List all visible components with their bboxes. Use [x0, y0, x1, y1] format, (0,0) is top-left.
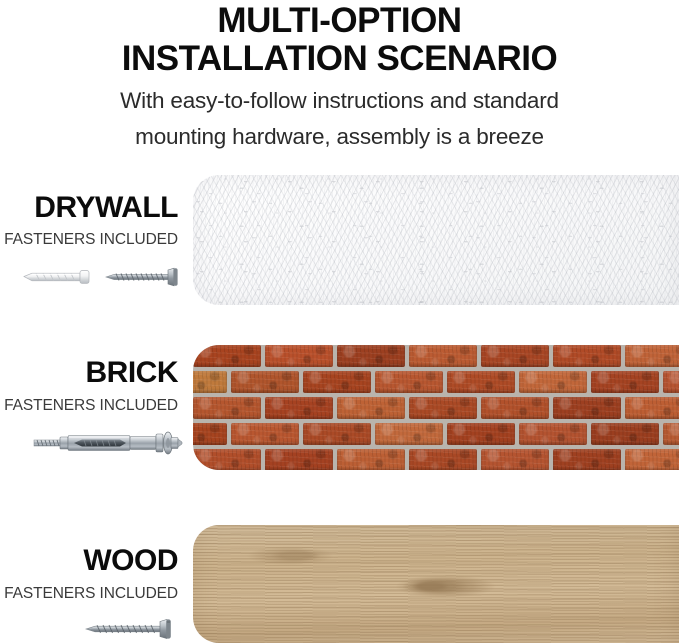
brick: [409, 345, 477, 367]
brick: [337, 397, 405, 419]
brick: [303, 371, 371, 393]
brick: [519, 371, 587, 393]
brick: [375, 423, 443, 445]
brick-row: [193, 449, 679, 470]
brick: [625, 345, 679, 367]
brick: [625, 449, 679, 470]
infographic-page: MULTI-OPTION INSTALLATION SCENARIO With …: [0, 0, 679, 643]
material-sub-drywall: FASTENERS INCLUDED: [0, 231, 178, 249]
sleeve-anchor-bolt-icon: [32, 429, 184, 457]
brick-row: [193, 345, 679, 371]
screw-icon: [104, 266, 184, 288]
brick: [553, 449, 621, 470]
brick: [193, 423, 227, 445]
drywall-label-group: DRYWALL FASTENERS INCLUDED: [0, 175, 186, 305]
header: MULTI-OPTION INSTALLATION SCENARIO With …: [0, 0, 679, 150]
brick-texture-panel: [193, 345, 679, 470]
brick: [447, 423, 515, 445]
material-name-wood: WOOD: [0, 545, 178, 577]
brick: [265, 449, 333, 470]
brick: [409, 449, 477, 470]
title-line-2: INSTALLATION SCENARIO: [0, 40, 679, 78]
brick: [193, 449, 261, 470]
brick: [193, 397, 261, 419]
subtitle-line-1: With easy-to-follow instructions and sta…: [0, 88, 679, 114]
brick: [591, 371, 659, 393]
brick: [663, 371, 679, 393]
brick: [481, 449, 549, 470]
brick-row: [193, 371, 679, 397]
drywall-texture-panel: [193, 175, 679, 305]
material-sub-brick: FASTENERS INCLUDED: [0, 397, 178, 415]
brick-fastener-group: [0, 423, 178, 465]
material-name-brick: BRICK: [0, 357, 178, 389]
brick-label-group: BRICK FASTENERS INCLUDED: [0, 345, 186, 470]
brick: [591, 423, 659, 445]
brick: [337, 345, 405, 367]
brick: [447, 371, 515, 393]
brick: [337, 449, 405, 470]
brick: [231, 423, 299, 445]
brick: [553, 345, 621, 367]
brick: [625, 397, 679, 419]
drywall-fastener-group: [0, 257, 178, 299]
brick: [231, 371, 299, 393]
wood-screw-icon: [84, 617, 180, 641]
wood-label-group: WOOD FASTENERS INCLUDED: [0, 525, 186, 643]
material-sub-wood: FASTENERS INCLUDED: [0, 585, 178, 603]
material-row-brick: BRICK FASTENERS INCLUDED: [0, 345, 679, 470]
brick: [193, 345, 261, 367]
material-row-wood: WOOD FASTENERS INCLUDED: [0, 525, 679, 643]
title-line-1: MULTI-OPTION: [0, 2, 679, 40]
subtitle-line-2: mounting hardware, assembly is a breeze: [0, 124, 679, 150]
brick: [519, 423, 587, 445]
brick: [265, 345, 333, 367]
material-name-drywall: DRYWALL: [0, 192, 178, 224]
brick-row: [193, 423, 679, 449]
brick-row: [193, 397, 679, 423]
brick: [553, 397, 621, 419]
material-row-drywall: DRYWALL FASTENERS INCLUDED: [0, 175, 679, 305]
brick: [375, 371, 443, 393]
wall-anchor-icon: [22, 265, 98, 289]
brick: [481, 345, 549, 367]
wood-fastener-group: [0, 611, 178, 643]
wood-texture-panel: [193, 525, 679, 643]
brick: [265, 397, 333, 419]
brick: [481, 397, 549, 419]
brick: [663, 423, 679, 445]
brick: [409, 397, 477, 419]
brick: [303, 423, 371, 445]
brick: [193, 371, 227, 393]
